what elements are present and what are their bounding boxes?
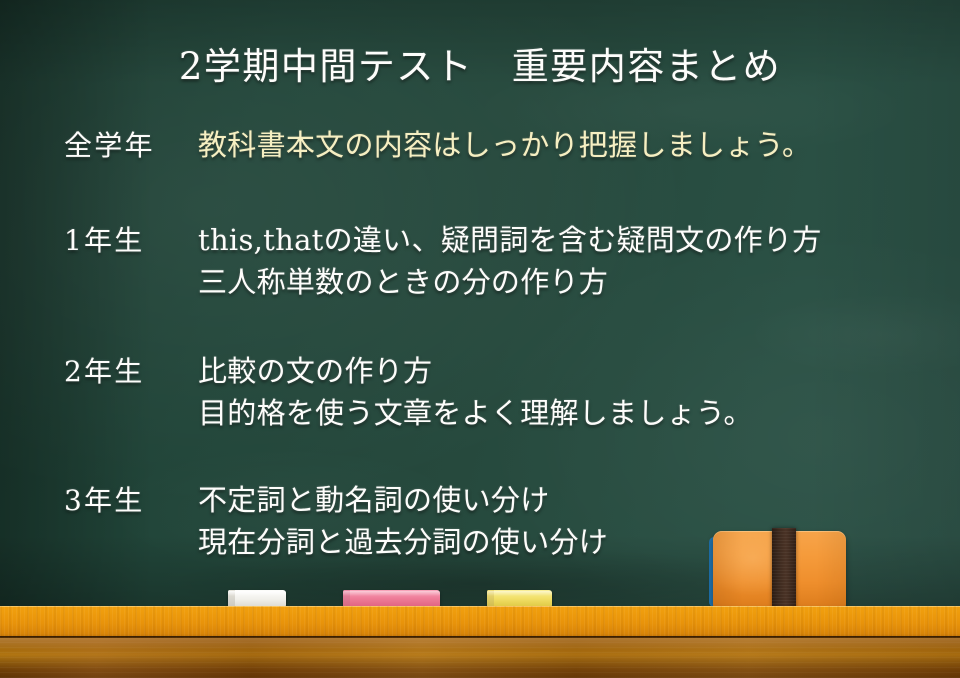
grade-label-grade3: 3年生 [64, 479, 145, 519]
grade-label-grade2: 2年生 [64, 350, 145, 390]
white-chalk-highlight [228, 591, 286, 596]
board-title: 2学期中間テスト 重要内容まとめ [0, 36, 960, 90]
floor-grain [0, 638, 960, 678]
board-line-grade2-1: 比較の文の作り方 [198, 348, 432, 390]
board-line-grade3-1: 不定詞と動名詞の使い分け [198, 477, 549, 519]
board-line-grade2-2: 目的格を使う文章をよく理解しましょう。 [198, 390, 753, 432]
grade-label-grade1: 1年生 [64, 219, 145, 259]
blackboard-scene: 2学期中間テスト 重要内容まとめ 全学年 教科書本文の内容はしっかり把握しましょ… [0, 0, 960, 678]
eraser-strap-grain [772, 528, 796, 616]
board-line-grade3-2: 現在分詞と過去分詞の使い分け [198, 519, 608, 561]
board-line-grade1-1: this,thatの違い、疑問詞を含む疑問文の作り方 [198, 217, 822, 259]
floor-gloss [0, 638, 960, 650]
chalk-tray [0, 606, 960, 638]
pink-chalk-highlight [343, 591, 440, 596]
blackboard-eraser[interactable] [713, 531, 846, 613]
board-line-all-1: 教科書本文の内容はしっかり把握しましょう。 [198, 122, 811, 164]
board-line-grade1-2: 三人称単数のときの分の作り方 [198, 259, 608, 301]
chalk-tray-grain [0, 606, 960, 638]
yellow-chalk-highlight [487, 591, 552, 596]
wooden-floor [0, 638, 960, 678]
grade-label-all: 全学年 [64, 124, 155, 164]
eraser-strap [772, 528, 796, 616]
